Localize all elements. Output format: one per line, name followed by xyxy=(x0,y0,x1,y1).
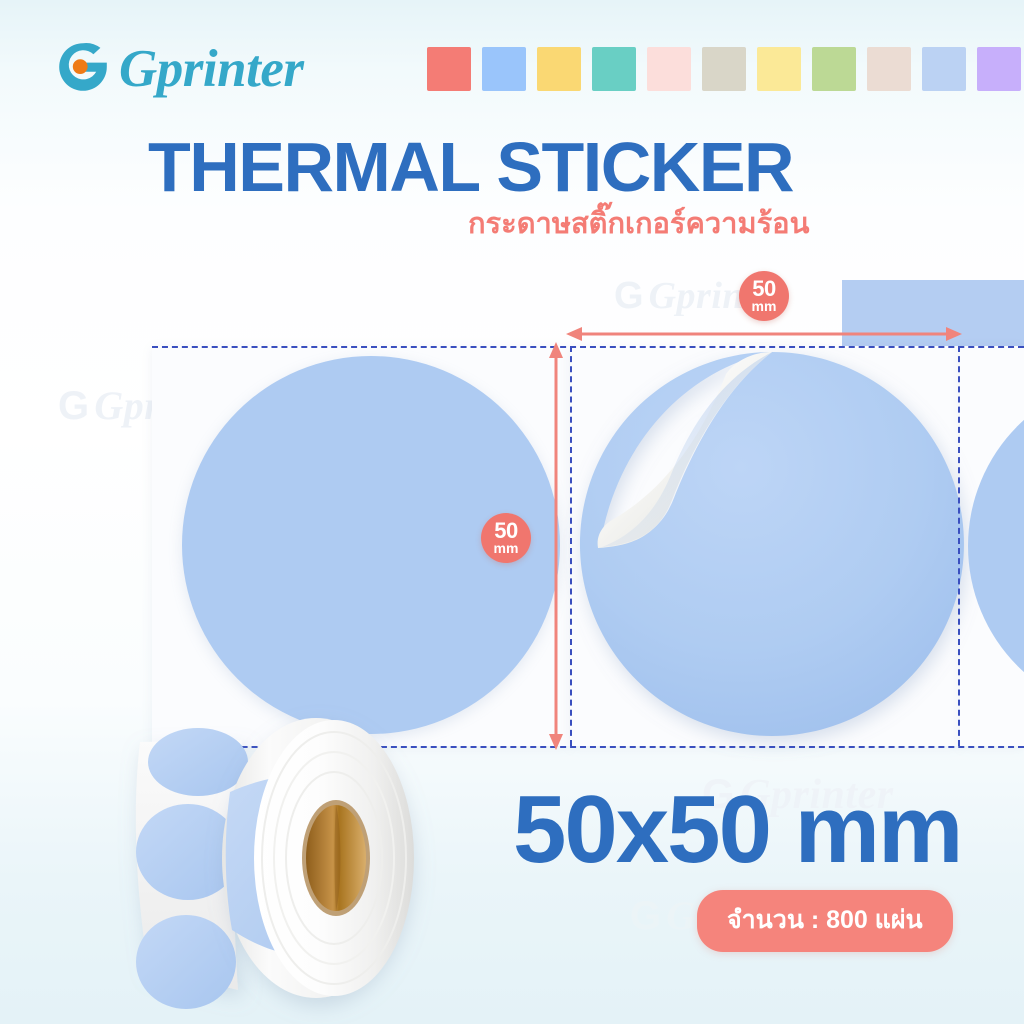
swatch-warm-grey xyxy=(702,47,746,91)
product-banner-canvas: GGprinter GGprinter GGprinter GGprinter … xyxy=(0,0,1024,1024)
dimension-badge-unit: mm xyxy=(752,300,777,313)
swatch-salmon xyxy=(427,47,471,91)
brand-logo: Gprinter xyxy=(56,36,303,98)
dimension-badge-value: 50 xyxy=(752,279,775,299)
page-subtitle-thai: กระดาษสติ๊กเกอร์ความร้อน xyxy=(468,210,809,239)
brand-wordmark: Gprinter xyxy=(119,43,303,96)
swatch-blush xyxy=(647,47,691,91)
watermark-g-icon: G xyxy=(630,894,662,939)
swatch-pale-blue xyxy=(922,47,966,91)
sticker-roll-product-image xyxy=(120,700,460,1000)
swatch-light-green xyxy=(812,47,856,91)
banner-header: Gprinter xyxy=(0,0,1024,118)
product-size-label: 50x50 mm xyxy=(513,782,961,878)
page-title: THERMAL STICKER xyxy=(148,132,793,202)
dimension-badge-width: 50 mm xyxy=(739,271,789,321)
swatch-lavender xyxy=(977,47,1021,91)
dimension-badge-height: 50 mm xyxy=(481,513,531,563)
dimension-arrow-horizontal xyxy=(566,324,962,344)
swatch-pale-yellow xyxy=(757,47,801,91)
gprinter-g-logo-icon xyxy=(56,40,110,94)
sticker-circle-peeling xyxy=(576,348,968,748)
dimension-badge-unit: mm xyxy=(494,542,519,555)
swatch-yellow xyxy=(537,47,581,91)
swatch-sky-blue xyxy=(482,47,526,91)
dimension-badge-value: 50 xyxy=(494,521,517,541)
swatch-teal xyxy=(592,47,636,91)
color-palette-swatches xyxy=(427,47,1021,91)
quantity-badge: จำนวน : 800 แผ่น xyxy=(697,890,953,952)
swatch-beige xyxy=(867,47,911,91)
